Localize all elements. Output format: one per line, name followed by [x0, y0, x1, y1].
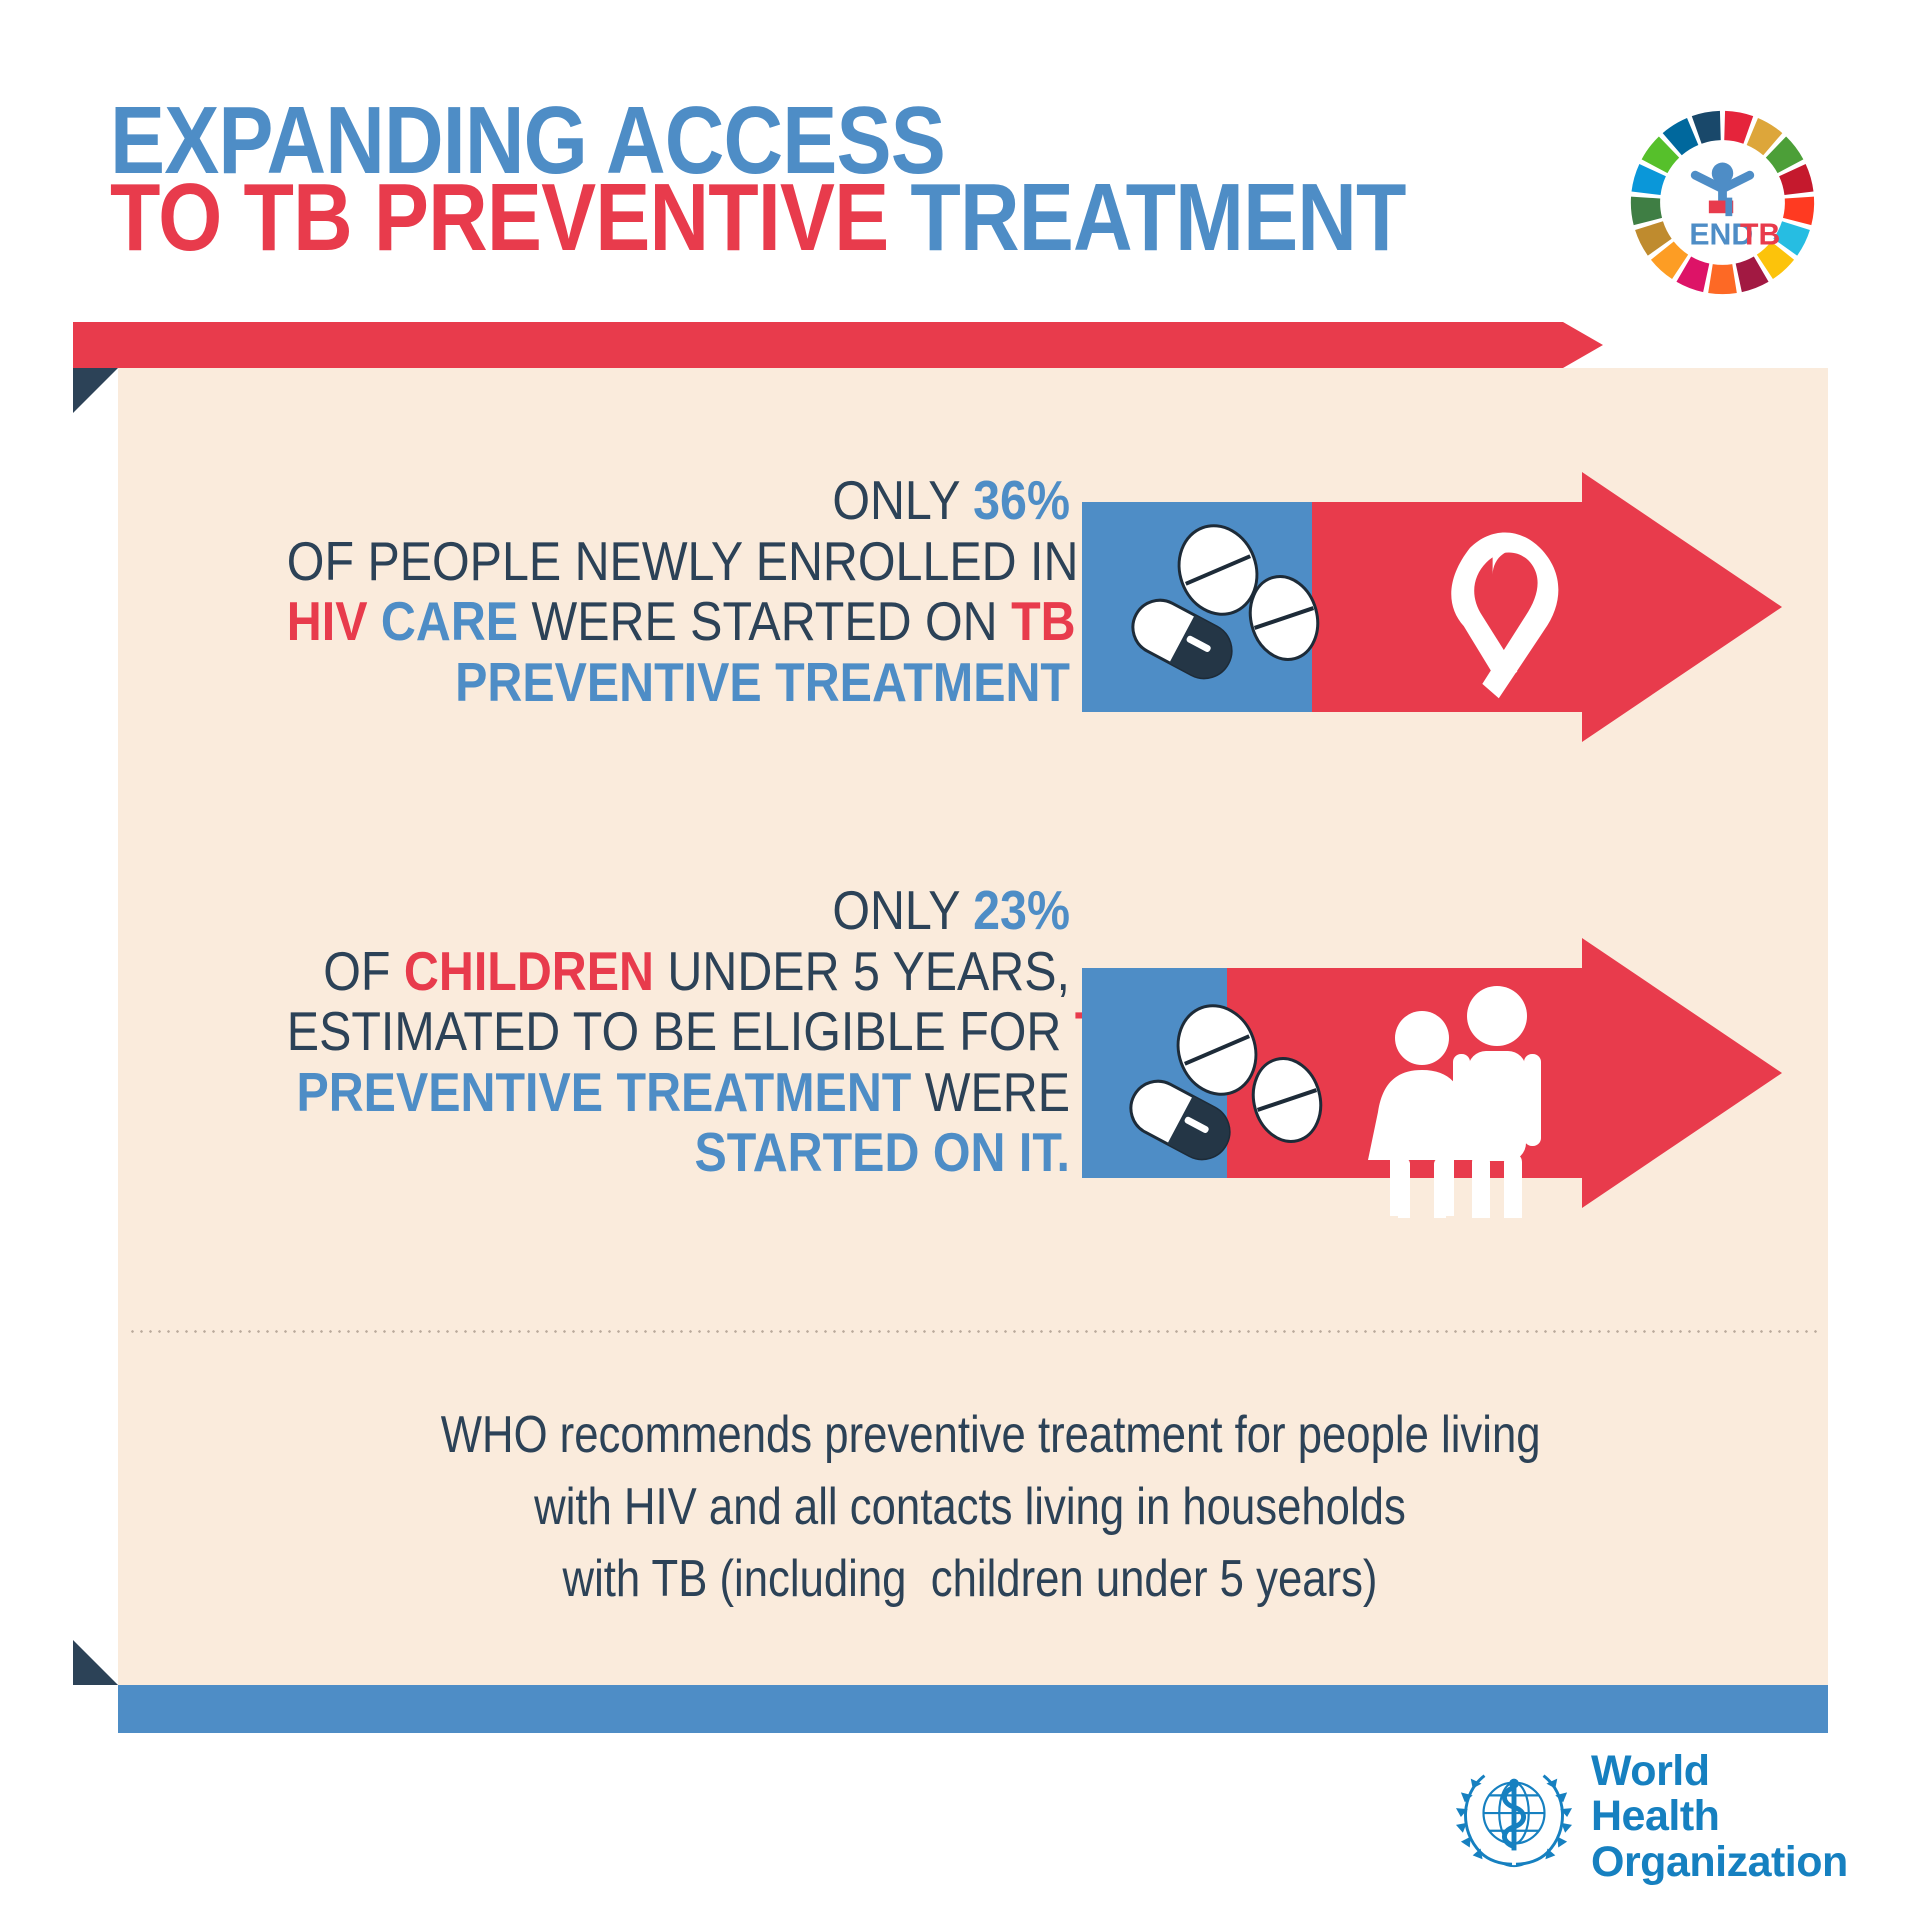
- stat-2-text: ONLY 23% OF CHILDREN UNDER 5 YEARS, ESTI…: [180, 880, 1070, 1183]
- who-wordmark: World Health Organization: [1591, 1749, 1848, 1886]
- stat-1-arrow-graphic: [1082, 462, 1782, 752]
- stat-2-arrow-graphic: [1082, 928, 1782, 1218]
- footer-line-1: WHO recommends preventive treatment for …: [441, 1400, 1499, 1472]
- section-divider: [128, 1330, 1818, 1333]
- stat-1-percent: 36%: [973, 469, 1070, 531]
- stat-2-line-2: OF CHILDREN UNDER 5 YEARS,: [287, 941, 1070, 1002]
- stat-2-line-3: ESTIMATED TO BE ELIGIBLE FOR TB: [287, 1001, 1070, 1062]
- footer-note: WHO recommends preventive treatment for …: [340, 1400, 1600, 1615]
- title-line-2-blue: TREATMENT: [910, 164, 1405, 271]
- blue-footer-bar: [118, 1685, 1828, 1733]
- stat-1-line-2: OF PEOPLE NEWLY ENROLLED IN: [287, 531, 1070, 592]
- stat-2-line-4: PREVENTIVE TREATMENT WERE: [287, 1062, 1070, 1123]
- footer-line-3: with TB (including children under 5 year…: [441, 1544, 1499, 1616]
- stat-1-line-4: PREVENTIVE TREATMENT: [287, 652, 1070, 713]
- infographic-poster: EXPANDING ACCESS TO TB PREVENTIVE TREATM…: [0, 0, 1920, 1920]
- stat-2-line-1: ONLY 23%: [287, 880, 1070, 941]
- who-wordmark-line-1: World Health: [1591, 1749, 1848, 1840]
- red-header-bar: [73, 322, 1563, 368]
- stat-1-line-3: HIV CARE WERE STARTED ON TB: [287, 591, 1070, 652]
- stat-2-line-5: STARTED ON IT.: [287, 1122, 1070, 1183]
- sdg-wheel-segment: [1692, 111, 1721, 144]
- sdg-wheel-segment: [1783, 197, 1814, 226]
- footer-line-2: with HIV and all contacts living in hous…: [441, 1472, 1499, 1544]
- end-tb-sdg-wheel-logo: END TB: [1625, 105, 1820, 300]
- stat-2-percent: 23%: [973, 879, 1070, 941]
- sdg-wheel-icon: END TB: [1625, 105, 1820, 300]
- who-emblem-icon: [1455, 1758, 1573, 1876]
- sdg-wheel-segment: [1724, 111, 1753, 144]
- who-logo: World Health Organization: [1455, 1752, 1825, 1882]
- title-line-2-red: TO TB PREVENTIVE: [110, 164, 910, 271]
- endtb-tb-label: TB: [1740, 218, 1780, 251]
- sdg-wheel-segment: [1708, 264, 1737, 294]
- stat-1-line-1: ONLY 36%: [287, 470, 1070, 531]
- page-title: EXPANDING ACCESS TO TB PREVENTIVE TREATM…: [110, 100, 1530, 259]
- stat-1-text: ONLY 36% OF PEOPLE NEWLY ENROLLED IN HIV…: [180, 470, 1070, 712]
- sdg-wheel-segment: [1631, 197, 1662, 226]
- who-wordmark-line-2: Organization: [1591, 1840, 1848, 1886]
- red-bar-arrow-tip: [1563, 322, 1603, 368]
- blue-bar-corner-fold: [73, 1640, 118, 1685]
- red-bar-corner-fold: [73, 368, 118, 413]
- title-line-2: TO TB PREVENTIVE TREATMENT: [110, 177, 1331, 260]
